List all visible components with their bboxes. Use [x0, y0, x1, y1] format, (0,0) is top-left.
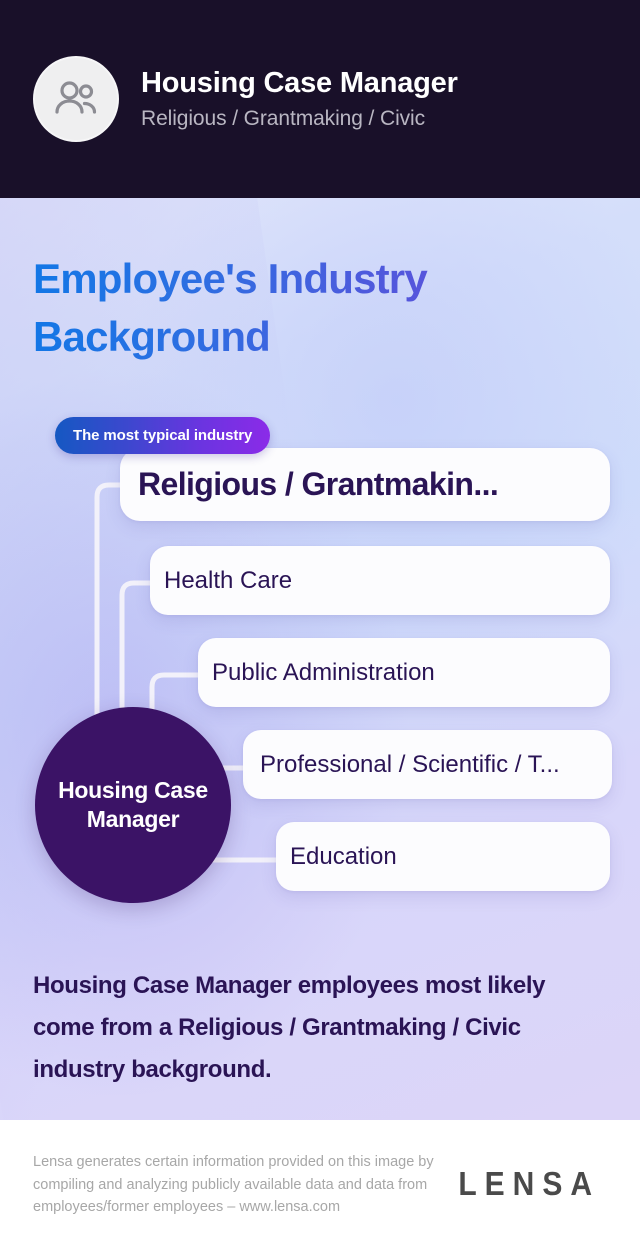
industry-card-label: Religious / Grantmakin...	[138, 466, 498, 503]
center-node: Housing Case Manager	[35, 707, 231, 903]
summary-text: Housing Case Manager employees most like…	[33, 965, 593, 1090]
footer-bar: Lensa generates certain information prov…	[0, 1120, 640, 1250]
industry-card-4[interactable]: Professional / Scientific / T...	[243, 730, 612, 799]
industry-card-1[interactable]: Religious / Grantmakin...	[120, 448, 610, 521]
industry-card-label: Health Care	[164, 567, 292, 595]
status-badge: The most typical industry	[55, 417, 270, 454]
industry-card-3[interactable]: Public Administration	[198, 638, 610, 707]
industry-card-5[interactable]: Education	[276, 822, 610, 891]
footer-disclaimer: Lensa generates certain information prov…	[33, 1151, 458, 1218]
industry-card-2[interactable]: Health Care	[150, 546, 610, 615]
lensa-logo: LENSA	[458, 1166, 600, 1204]
industry-card-label: Professional / Scientific / T...	[260, 751, 560, 779]
infographic-page: Housing Case Manager Religious / Grantma…	[0, 0, 640, 1250]
industry-card-label: Public Administration	[212, 659, 435, 687]
industry-card-label: Education	[290, 843, 397, 871]
